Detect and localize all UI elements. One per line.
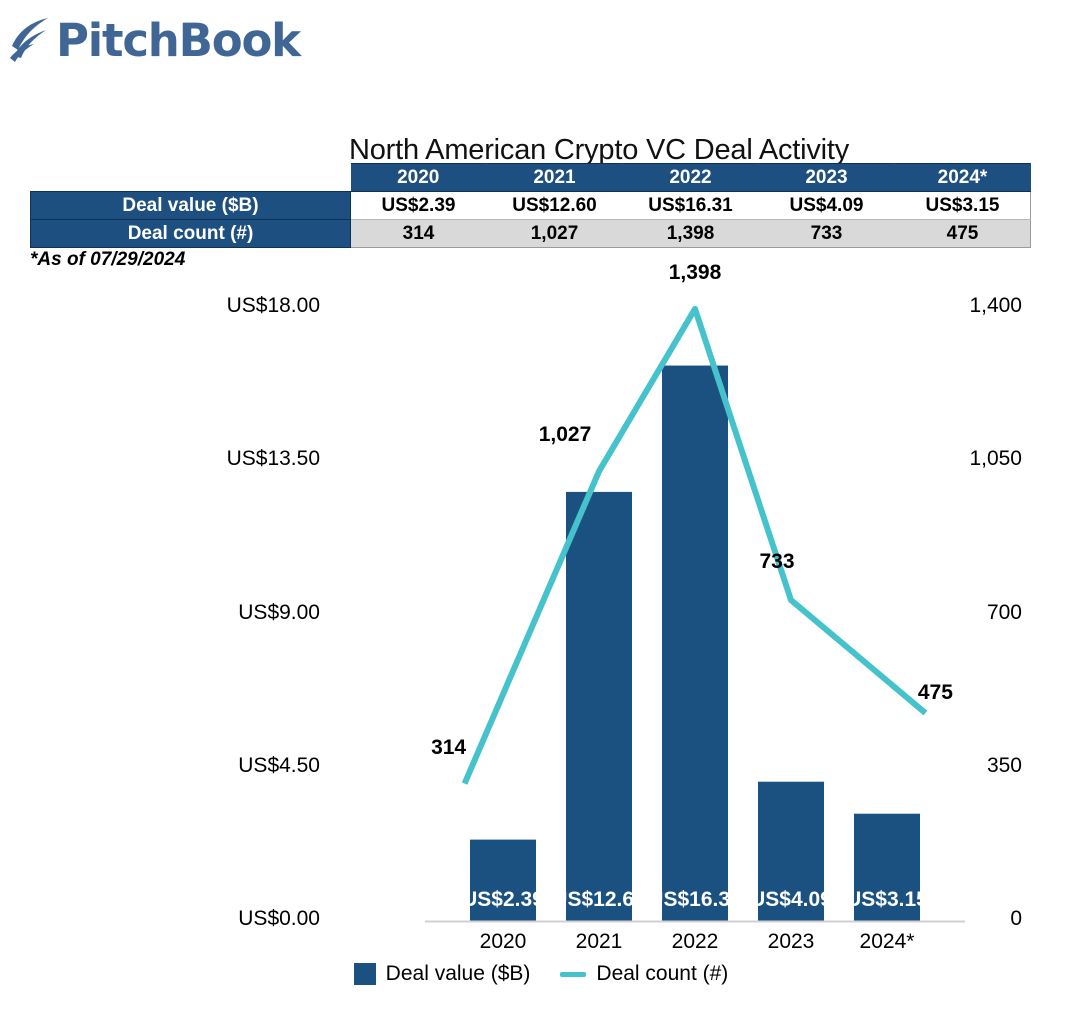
table-corner-cell <box>31 164 351 192</box>
cell-deal-value-2022: US$16.31 <box>623 192 759 220</box>
bar-2021 <box>566 492 632 921</box>
table-header-2022: 2022 <box>623 164 759 192</box>
cell-deal-value-2020: US$2.39 <box>351 192 487 220</box>
bar-value-label-2024*: US$3.15 <box>827 888 947 912</box>
legend-label-deal-value: Deal value ($B) <box>386 962 531 986</box>
pitchbook-logo: PitchBook <box>8 10 300 70</box>
line-value-label-2024*: 475 <box>918 681 953 705</box>
line-value-label-2020: 314 <box>431 736 466 760</box>
y-axis-right-tick-0: 0 <box>950 907 1022 931</box>
chart-legend: Deal value ($B) Deal count (#) <box>0 962 1082 986</box>
x-axis-tick-2024*: 2024* <box>827 930 947 954</box>
y-axis-left-tick-3: US$13.50 <box>227 447 320 471</box>
summary-table: 2020 2021 2022 2023 2024* Deal value ($B… <box>30 163 1031 248</box>
cell-deal-count-2024: 475 <box>895 220 1031 248</box>
pitchbook-logo-icon <box>8 16 54 64</box>
row-label-deal-count: Deal count (#) <box>31 220 351 248</box>
legend-item-deal-count[interactable]: Deal count (#) <box>560 962 728 986</box>
y-axis-right-tick-2: 700 <box>950 601 1022 625</box>
legend-bar-swatch-icon <box>354 963 376 985</box>
table-header-2023: 2023 <box>759 164 895 192</box>
line-value-label-2023: 733 <box>759 550 794 574</box>
y-axis-right-tick-4: 1,400 <box>950 294 1022 318</box>
cell-deal-value-2021: US$12.60 <box>487 192 623 220</box>
row-label-deal-value: Deal value ($B) <box>31 192 351 220</box>
y-axis-left-tick-1: US$4.50 <box>238 754 320 778</box>
table-header-2021: 2021 <box>487 164 623 192</box>
table-row-deal-value: Deal value ($B) US$2.39 US$12.60 US$16.3… <box>31 192 1031 220</box>
legend-label-deal-count: Deal count (#) <box>596 962 728 986</box>
legend-item-deal-value[interactable]: Deal value ($B) <box>354 962 531 986</box>
cell-deal-count-2023: 733 <box>759 220 895 248</box>
table-header-2024: 2024* <box>895 164 1031 192</box>
line-value-label-2021: 1,027 <box>539 423 592 447</box>
cell-deal-count-2021: 1,027 <box>487 220 623 248</box>
cell-deal-count-2020: 314 <box>351 220 487 248</box>
cell-deal-value-2024: US$3.15 <box>895 192 1031 220</box>
line-series <box>465 309 926 784</box>
cell-deal-count-2022: 1,398 <box>623 220 759 248</box>
y-axis-right-tick-1: 350 <box>950 754 1022 778</box>
table-row-deal-count: Deal count (#) 314 1,027 1,398 733 475 <box>31 220 1031 248</box>
legend-line-swatch-icon <box>560 972 586 977</box>
bar-series <box>470 366 920 921</box>
y-axis-left-tick-2: US$9.00 <box>238 601 320 625</box>
y-axis-left-tick-0: US$0.00 <box>238 907 320 931</box>
pitchbook-wordmark: PitchBook <box>56 18 300 63</box>
table-header-row: 2020 2021 2022 2023 2024* <box>31 164 1031 192</box>
table-header-2020: 2020 <box>351 164 487 192</box>
y-axis-right-tick-3: 1,050 <box>950 447 1022 471</box>
line-value-label-2022: 1,398 <box>669 261 722 285</box>
footnote: *As of 07/29/2024 <box>30 249 185 271</box>
bar-2022 <box>662 366 728 921</box>
cell-deal-value-2023: US$4.09 <box>759 192 895 220</box>
y-axis-left-tick-4: US$18.00 <box>227 294 320 318</box>
